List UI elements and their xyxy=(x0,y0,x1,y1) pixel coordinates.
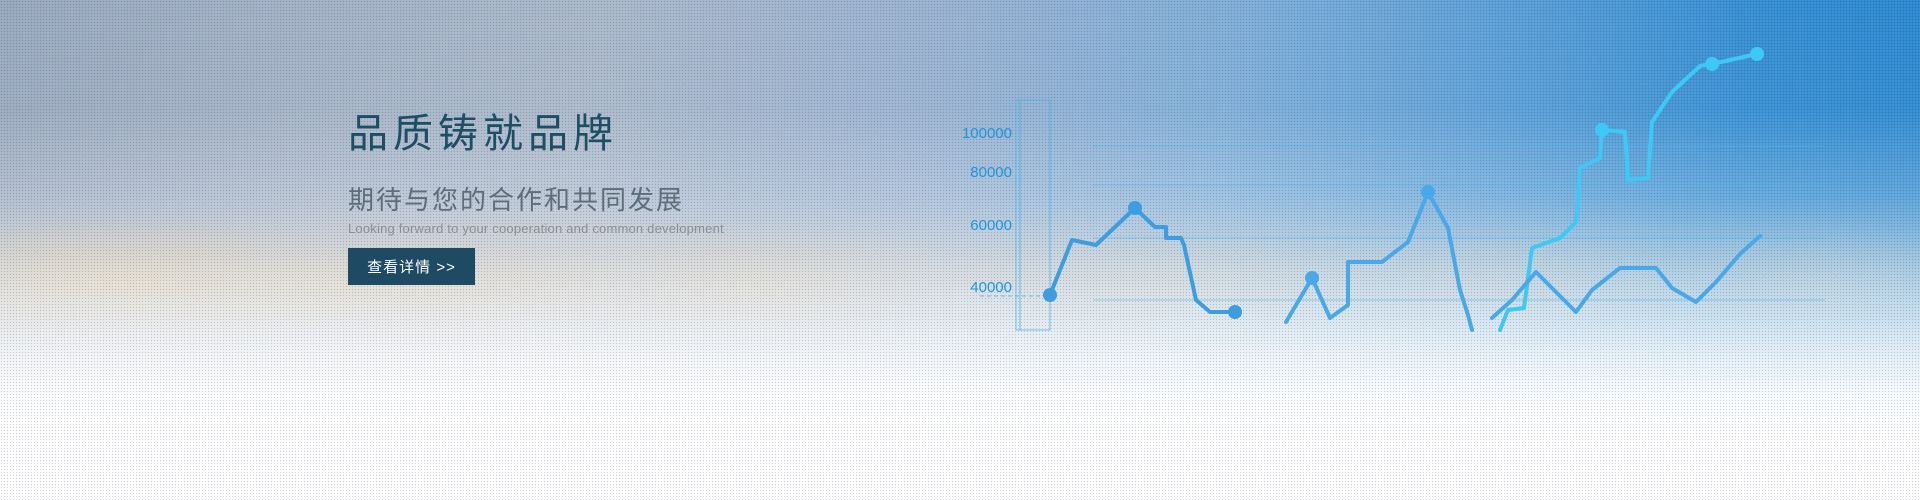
chart-series-line xyxy=(1050,208,1235,312)
subtitle-english: Looking forward to your cooperation and … xyxy=(348,221,968,237)
hero-banner: 100000800006000040000 品质铸就品牌 期待与您的合作和共同发… xyxy=(0,0,1920,500)
view-details-button[interactable]: 查看详情 >> xyxy=(348,248,475,285)
page-title: 品质铸就品牌 xyxy=(348,112,968,156)
hero-copy-block: 品质铸就品牌 期待与您的合作和共同发展 Looking forward to y… xyxy=(348,112,968,236)
chart-data-point xyxy=(1750,47,1764,61)
chart-data-point xyxy=(1305,271,1319,285)
chart-data-point xyxy=(1043,288,1057,302)
chart-y-tick-label: 40000 xyxy=(970,279,1012,296)
line-chart: 100000800006000040000 xyxy=(0,0,1920,500)
subtitle-chinese: 期待与您的合作和共同发展 xyxy=(348,186,968,215)
chart-series-line xyxy=(1500,54,1757,330)
chart-series-line xyxy=(1286,192,1472,330)
chart-data-point xyxy=(1228,305,1242,319)
chart-data-point xyxy=(1595,123,1609,137)
chart-y-tick-label: 60000 xyxy=(970,217,1012,234)
chart-y-tick-label: 80000 xyxy=(970,164,1012,181)
chart-data-point xyxy=(1705,57,1719,71)
chart-y-tick-label: 100000 xyxy=(962,125,1012,142)
chart-data-point xyxy=(1128,201,1142,215)
chart-data-point xyxy=(1421,185,1435,199)
